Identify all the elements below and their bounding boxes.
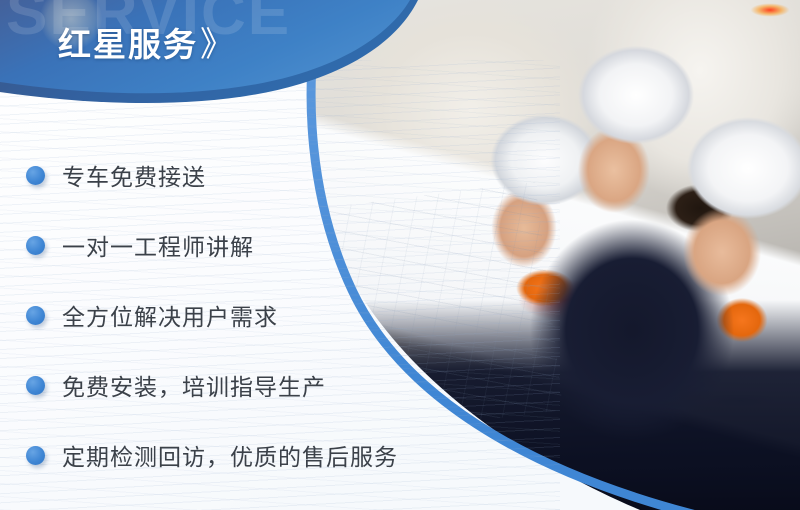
bullet-dot-icon [26,236,45,255]
banner-title: 红星服务》 [58,17,228,66]
list-item: 定期检测回访，优质的售后服务 [0,420,470,490]
list-item-label: 专车免费接送 [62,158,206,192]
bullet-dot-icon [26,376,45,395]
list-item: 免费安装，培训指导生产 [0,350,470,420]
list-item-label: 全方位解决用户需求 [62,298,278,332]
list-item-label: 免费安装，培训指导生产 [62,368,326,402]
banner-header: SERVICE 红星服务》 [0,0,800,130]
chevron-double-right-icon: 》 [200,26,228,64]
service-feature-list: 专车免费接送 一对一工程师讲解 全方位解决用户需求 免费安装，培训指导生产 定期… [0,140,470,490]
bullet-dot-icon [26,446,45,465]
bullet-dot-icon [26,166,45,185]
banner-title-text: 红星服务 [58,26,198,63]
bullet-dot-icon [26,306,45,325]
list-item: 全方位解决用户需求 [0,280,470,350]
service-promo-banner: SERVICE 红星服务》 专车免费接送 一对一工程师讲解 全方位解决用户需求 … [0,0,800,510]
list-item-label: 一对一工程师讲解 [62,228,254,262]
list-item-label: 定期检测回访，优质的售后服务 [62,438,398,472]
list-item: 一对一工程师讲解 [0,210,470,280]
list-item: 专车免费接送 [0,140,470,210]
